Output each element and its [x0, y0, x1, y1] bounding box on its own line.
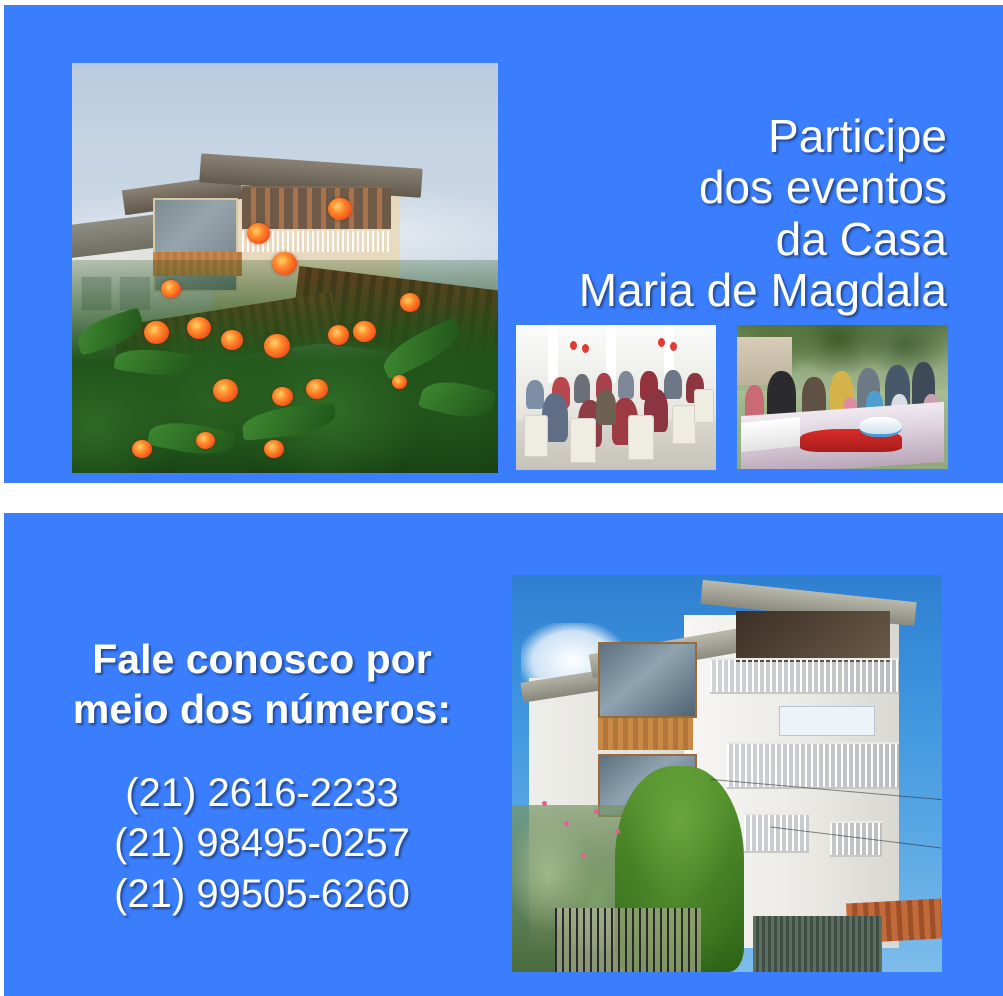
flyer-root: Participe dos eventos da Casa Maria de M…: [0, 0, 1003, 996]
balloon: [658, 338, 665, 347]
person: [664, 370, 682, 399]
phone-number[interactable]: (21) 99505-6260: [12, 869, 512, 919]
top-panel: Participe dos eventos da Casa Maria de M…: [4, 5, 1003, 483]
person: [526, 380, 544, 409]
person: [596, 390, 616, 425]
phone-number[interactable]: (21) 98495-0257: [12, 818, 512, 868]
flower-bloom: [272, 252, 297, 275]
flower-bloom: [306, 379, 328, 399]
flower-bloom: [328, 325, 349, 345]
headline-events: Participe dos eventos da Casa Maria de M…: [427, 111, 947, 317]
phone-number-list: (21) 2616-2233 (21) 98495-0257 (21) 9950…: [12, 768, 512, 919]
flower-bloom: [221, 330, 243, 350]
hall-back-wall: [516, 325, 716, 377]
upper-dark-windows: [736, 611, 891, 663]
pink-flower: [564, 821, 569, 826]
flower-bloom: [392, 375, 407, 389]
wood-panel: [598, 718, 693, 750]
chair: [628, 415, 654, 461]
tower-window-row: [242, 186, 391, 229]
flower-bloom: [213, 379, 238, 402]
hall-pillar: [548, 325, 558, 383]
photo-building-main: [512, 575, 942, 972]
corner-glass-upper: [598, 642, 697, 717]
bottom-panel: Fale conosco por meio dos números: (21) …: [4, 513, 1003, 996]
pink-flower: [594, 809, 599, 814]
balloon: [582, 344, 589, 353]
chair: [570, 418, 596, 464]
flower-bloom: [196, 432, 215, 449]
person: [618, 371, 634, 399]
building-sign: [779, 706, 876, 736]
photo-dining-hall: [516, 325, 716, 470]
flower-bloom: [264, 440, 284, 458]
flower-bloom: [272, 387, 293, 406]
flower-bloom: [132, 440, 152, 458]
phone-number[interactable]: (21) 2616-2233: [12, 768, 512, 818]
flower-bloom: [247, 223, 270, 244]
garage-door: [753, 916, 882, 972]
lower-window-grill: [744, 813, 809, 853]
flower-bloom: [400, 293, 420, 312]
flower-bloom: [264, 334, 290, 358]
balloon: [570, 341, 577, 350]
cake: [859, 417, 901, 437]
photo-outdoor-event: [737, 325, 948, 469]
upper-balcony-rail: [710, 658, 899, 694]
chair: [694, 389, 714, 423]
entrance-gate: [555, 908, 701, 972]
person: [574, 374, 590, 403]
chair: [672, 405, 696, 445]
pink-flower: [581, 853, 586, 858]
headline-contact: Fale conosco por meio dos números:: [12, 634, 512, 734]
flower-bloom: [328, 198, 352, 220]
chair: [524, 415, 548, 458]
